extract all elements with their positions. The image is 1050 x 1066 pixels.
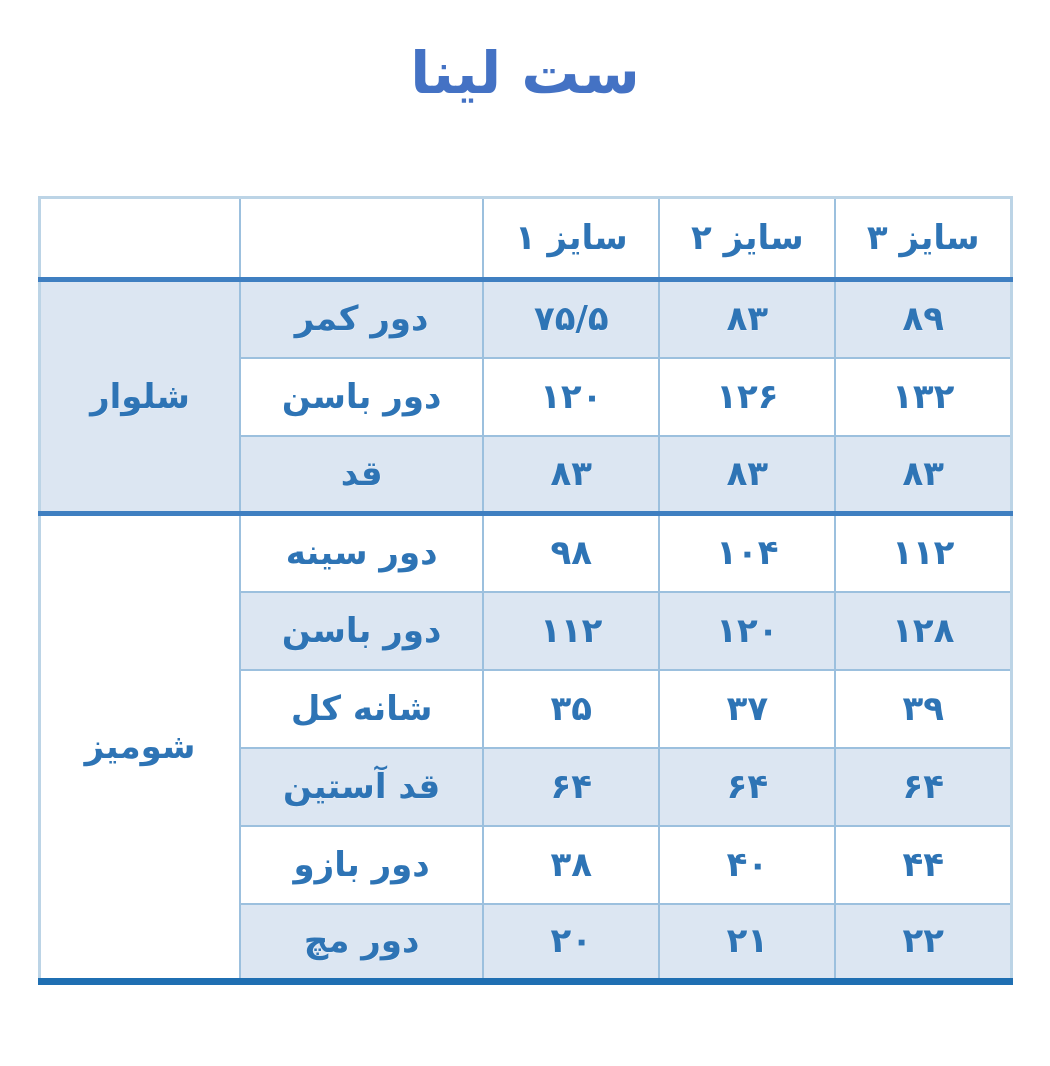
table-row: ۱۱۲۱۰۴۹۸دور سینهشومیز <box>40 514 1012 592</box>
cell-size-1: ۲۰ <box>483 904 659 982</box>
size-chart-page: ست لینا سایز ۳ سایز ۲ سایز ۱ ۸۹۸۳۷۵/۵دور… <box>0 0 1050 1066</box>
column-header-garment <box>40 198 241 280</box>
cell-size-3: ۴۴ <box>835 826 1011 904</box>
cell-measurement-label: قد آستین <box>240 748 483 826</box>
size-table-container: سایز ۳ سایز ۲ سایز ۱ ۸۹۸۳۷۵/۵دور کمرشلوا… <box>38 196 1013 985</box>
cell-size-2: ۶۴ <box>659 748 835 826</box>
cell-size-3: ۱۲۸ <box>835 592 1011 670</box>
cell-size-3: ۲۲ <box>835 904 1011 982</box>
cell-size-2: ۱۲۶ <box>659 358 835 436</box>
cell-measurement-label: شانه کل <box>240 670 483 748</box>
cell-measurement-label: دور بازو <box>240 826 483 904</box>
cell-size-1: ۶۴ <box>483 748 659 826</box>
cell-size-2: ۸۳ <box>659 436 835 514</box>
cell-garment-group: شومیز <box>40 514 241 982</box>
cell-measurement-label: دور کمر <box>240 280 483 358</box>
column-header-measurement <box>240 198 483 280</box>
column-header-size-3: سایز ۳ <box>835 198 1011 280</box>
cell-size-2: ۸۳ <box>659 280 835 358</box>
cell-size-1: ۱۲۰ <box>483 358 659 436</box>
cell-size-1: ۸۳ <box>483 436 659 514</box>
cell-size-1: ۳۸ <box>483 826 659 904</box>
cell-size-2: ۴۰ <box>659 826 835 904</box>
cell-measurement-label: دور باسن <box>240 358 483 436</box>
table-header-row: سایز ۳ سایز ۲ سایز ۱ <box>40 198 1012 280</box>
column-header-size-1: سایز ۱ <box>483 198 659 280</box>
cell-size-3: ۶۴ <box>835 748 1011 826</box>
cell-measurement-label: دور سینه <box>240 514 483 592</box>
cell-size-1: ۳۵ <box>483 670 659 748</box>
cell-size-3: ۳۹ <box>835 670 1011 748</box>
cell-measurement-label: قد <box>240 436 483 514</box>
cell-size-3: ۱۱۲ <box>835 514 1011 592</box>
table-body: ۸۹۸۳۷۵/۵دور کمرشلوار۱۳۲۱۲۶۱۲۰دور باسن۸۳۸… <box>40 280 1012 982</box>
cell-size-1: ۱۱۲ <box>483 592 659 670</box>
table-header: سایز ۳ سایز ۲ سایز ۱ <box>40 198 1012 280</box>
cell-size-2: ۲۱ <box>659 904 835 982</box>
cell-size-2: ۱۰۴ <box>659 514 835 592</box>
cell-size-1: ۹۸ <box>483 514 659 592</box>
cell-size-2: ۳۷ <box>659 670 835 748</box>
cell-measurement-label: دور مچ <box>240 904 483 982</box>
cell-size-2: ۱۲۰ <box>659 592 835 670</box>
column-header-size-2: سایز ۲ <box>659 198 835 280</box>
cell-size-3: ۸۳ <box>835 436 1011 514</box>
cell-garment-group: شلوار <box>40 280 241 514</box>
cell-size-3: ۱۳۲ <box>835 358 1011 436</box>
size-table: سایز ۳ سایز ۲ سایز ۱ ۸۹۸۳۷۵/۵دور کمرشلوا… <box>38 196 1013 985</box>
cell-measurement-label: دور باسن <box>240 592 483 670</box>
cell-size-3: ۸۹ <box>835 280 1011 358</box>
table-row: ۸۹۸۳۷۵/۵دور کمرشلوار <box>40 280 1012 358</box>
cell-size-1: ۷۵/۵ <box>483 280 659 358</box>
page-title: ست لینا <box>0 0 1050 102</box>
